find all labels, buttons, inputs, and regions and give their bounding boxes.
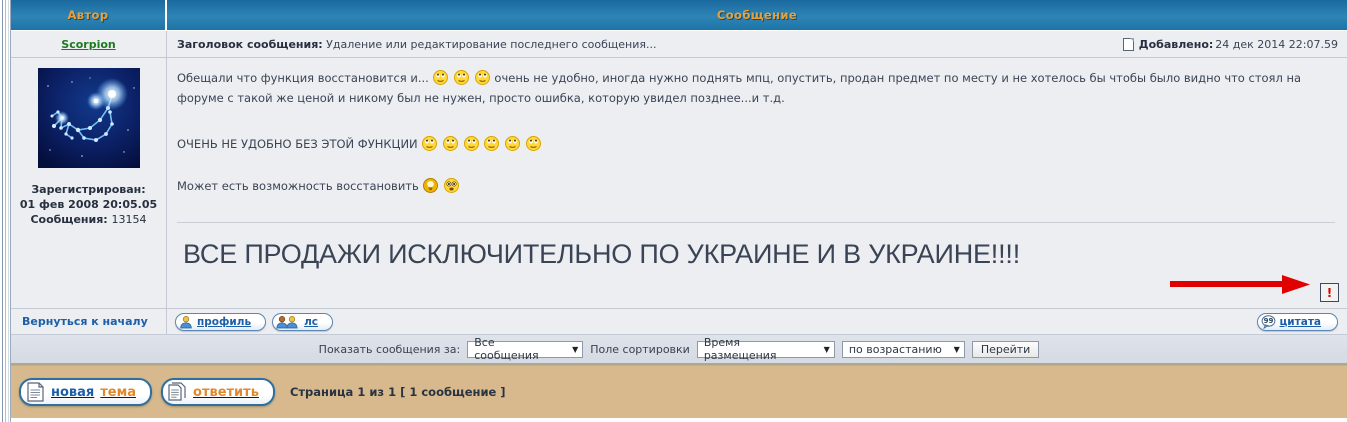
rolleyes-smiley-icon: [475, 70, 490, 85]
rolleyes-smiley-icon: [464, 136, 479, 151]
svg-text:99: 99: [1263, 317, 1273, 325]
two-users-icon: [276, 315, 300, 329]
forum-page: Автор Сообщение Scorpion Заголовок сообщ…: [0, 0, 1347, 422]
left-border-gutter: [0, 0, 11, 422]
post-subject-cell: Заголовок сообщения: Удаление или редакт…: [167, 31, 1347, 57]
forum-content: Автор Сообщение Scorpion Заголовок сообщ…: [11, 0, 1347, 422]
go-button[interactable]: Перейти: [972, 341, 1040, 358]
post-profile-column: Зарегистрирован: 01 фев 2008 20:05.05 Со…: [11, 58, 167, 308]
post-subject-text: Удаление или редактирование последнего с…: [323, 38, 657, 51]
report-post-area: !: [1320, 283, 1339, 302]
rolleyes-smiley-icon: [505, 136, 520, 151]
gutter-line-2: [5, 0, 6, 422]
profile-posts-count: 13154: [112, 213, 147, 226]
signature-separator: [177, 222, 1335, 223]
chevron-down-icon: ▼: [954, 345, 960, 354]
sort-order-value: по возрастанию: [849, 343, 942, 356]
show-posts-select[interactable]: Все сообщения ▼: [467, 341, 583, 358]
table-header-row: Автор Сообщение: [11, 0, 1347, 31]
table-header-message-cell: Сообщение: [167, 0, 1347, 30]
gutter-line-1: [2, 0, 3, 422]
user-icon: [179, 315, 193, 329]
rolleyes-smiley-icon: [526, 136, 541, 151]
profile-posts-label: Сообщения:: [30, 213, 107, 226]
table-header-author-label: Автор: [68, 8, 109, 22]
display-controls-bar: Показать сообщения за: Все сообщения ▼ П…: [11, 335, 1347, 365]
post-posted-label: Добавлено:: [1139, 38, 1214, 51]
new-topic-button[interactable]: новая тема: [19, 378, 152, 406]
page-info: Страница 1 из 1 [ 1 сообщение ]: [290, 385, 506, 399]
rolleyes-smiley-icon: [454, 70, 469, 85]
sort-field-label: Поле сортировки: [590, 343, 690, 356]
rolleyes-smiley-icon: [443, 136, 458, 151]
rolleyes-smiley-icon: [484, 136, 499, 151]
post-actions-right: 99 цитата: [1257, 313, 1338, 331]
document-icon: [1123, 38, 1134, 51]
post-row: Зарегистрирован: 01 фев 2008 20:05.05 Со…: [11, 58, 1347, 308]
profile-button[interactable]: профиль: [175, 313, 266, 331]
quote-button[interactable]: 99 цитата: [1257, 313, 1338, 331]
post-subject: Заголовок сообщения: Удаление или редакт…: [177, 38, 657, 51]
post-subject-row: Scorpion Заголовок сообщения: Удаление и…: [11, 31, 1347, 58]
post-actions-left: профиль лс: [175, 313, 333, 331]
post-signature: ВСЕ ПРОДАЖИ ИСКЛЮЧИТЕЛЬНО ПО УКРАИНЕ И В…: [177, 239, 1335, 270]
new-topic-label-2: тема: [100, 385, 136, 400]
post-footer-row: Вернуться к началу профиль: [11, 308, 1347, 335]
profile-registered-label: Зарегистрирован:: [11, 182, 166, 197]
report-post-button[interactable]: !: [1320, 283, 1339, 302]
post-author-cell: Scorpion: [11, 31, 167, 57]
reply-button[interactable]: ответить: [161, 378, 275, 406]
post-paragraph-1: Обещали что функция восстановится и...: [177, 68, 1335, 108]
quote-bubble-icon: 99: [1261, 315, 1276, 329]
back-to-top-link[interactable]: Вернуться к началу: [22, 315, 148, 328]
profile-registered-date: 01 фев 2008 20:05.05: [11, 197, 166, 212]
sort-field-value: Время размещения: [704, 336, 814, 362]
show-posts-value: Все сообщения: [474, 336, 562, 362]
show-posts-label: Показать сообщения за:: [319, 343, 461, 356]
new-topic-label-1: новая: [51, 385, 94, 400]
post-body-column: Обещали что функция восстановится и...: [167, 58, 1347, 308]
table-header-message-label: Сообщение: [717, 8, 797, 22]
chevron-down-icon: ▼: [572, 345, 578, 354]
shocked-smiley-icon: [444, 178, 459, 193]
sort-field-select[interactable]: Время размещения ▼: [697, 341, 835, 358]
post-paragraph-3: Может есть возможность восстановить: [177, 176, 1335, 196]
new-topic-page-icon: [26, 382, 45, 402]
pm-button-label: лс: [304, 316, 322, 328]
idea-smiley-icon: [423, 178, 438, 193]
reply-label: ответить: [193, 385, 259, 400]
post-posted-wrap: Добавлено: 24 дек 2014 22:07.59: [1123, 38, 1338, 51]
reply-pages-icon: [168, 382, 187, 402]
pm-button[interactable]: лс: [272, 313, 333, 331]
avatar: [38, 68, 140, 168]
sort-order-select[interactable]: по возрастанию ▼: [842, 341, 965, 358]
back-to-top-cell: Вернуться к началу: [11, 309, 167, 334]
post-paragraph-1-text-a: Обещали что функция восстановится и...: [177, 71, 429, 85]
annotation-arrow: [1170, 274, 1315, 299]
bottom-action-bar: новая тема ответить Страница 1 из 1 [ 1 …: [11, 365, 1347, 418]
profile-posts-line: Сообщения: 13154: [11, 212, 166, 227]
rolleyes-smiley-icon: [433, 70, 448, 85]
post-paragraph-3-text: Может есть возможность восстановить: [177, 179, 419, 193]
profile-button-label: профиль: [197, 316, 255, 328]
table-header-author-cell: Автор: [11, 0, 167, 30]
chevron-down-icon: ▼: [824, 345, 830, 354]
post-paragraph-2: ОЧЕНЬ НЕ УДОБНО БЕЗ ЭТОЙ ФУНКЦИИ: [177, 134, 1335, 154]
post-author-name[interactable]: Scorpion: [61, 38, 115, 51]
post-posted-date: 24 дек 2014 22:07.59: [1215, 38, 1338, 51]
post-actions-cell: профиль лс: [167, 309, 1347, 334]
post-paragraph-2-text: ОЧЕНЬ НЕ УДОБНО БЕЗ ЭТОЙ ФУНКЦИИ: [177, 137, 418, 151]
quote-button-label: цитата: [1280, 316, 1325, 328]
rolleyes-smiley-icon: [422, 136, 437, 151]
post-subject-label: Заголовок сообщения:: [177, 38, 323, 51]
gutter-line-3: [8, 0, 9, 422]
